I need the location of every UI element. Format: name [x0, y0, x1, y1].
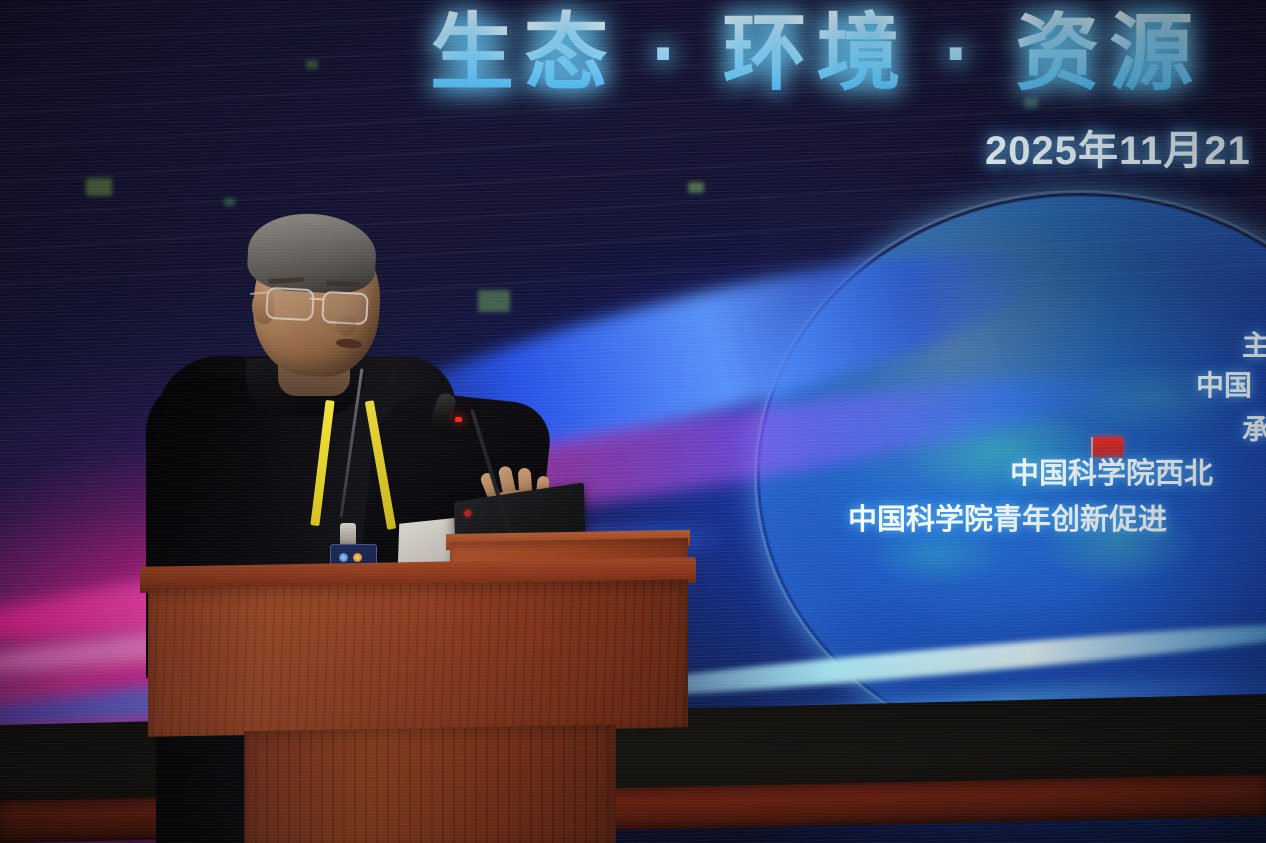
led-artifact [688, 182, 704, 193]
badge-emblem-right-icon [353, 553, 362, 562]
badge-emblem-left-icon [339, 553, 348, 562]
screen-host-org: 中国 [1196, 364, 1252, 404]
screen-undertaker-org-1: 中国科学院西北 [1010, 450, 1213, 492]
screen-undertaker-label: 承 [1242, 408, 1266, 448]
led-artifact [224, 198, 235, 206]
speaker-nose [336, 314, 356, 336]
led-artifact [86, 178, 112, 196]
screen-undertaker-org-2: 中国科学院青年创新促进 [848, 496, 1167, 538]
lectern-wood-grain [148, 579, 688, 736]
lectern-front-panel [148, 579, 688, 736]
lectern-base-wood-grain [244, 725, 616, 843]
eyeglasses-lens-left [265, 287, 315, 321]
microphone-status-led [455, 417, 462, 422]
screen-event-date: 2025年11月21 [985, 118, 1251, 176]
lectern-base [244, 725, 616, 843]
presentation-photo: 生态 · 环境 · 资源 2025年11月21 主 中国 承 中国科学院西北 中… [0, 0, 1266, 843]
screen-host-label: 主 [1242, 324, 1266, 364]
led-artifact [306, 60, 318, 69]
screen-headline: 生态 · 环境 · 资源 [430, 0, 1203, 107]
laptop-logo-icon [464, 509, 471, 517]
wooden-lectern [140, 562, 696, 843]
